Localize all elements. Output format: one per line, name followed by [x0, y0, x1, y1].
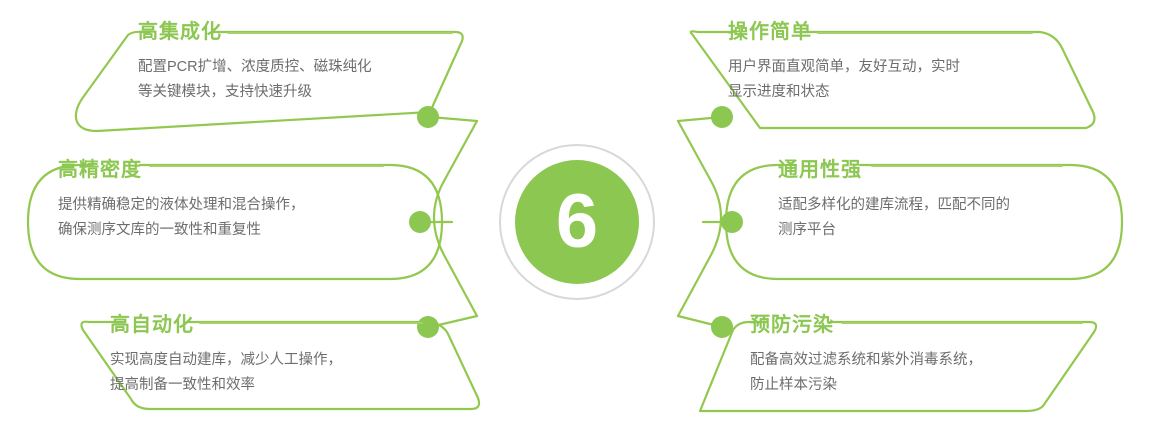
card-bottom-left: 高自动化 实现高度自动建库，减少人工操作， 提高制备一致性和效率: [110, 315, 342, 398]
card-body-line: 提供精确稳定的液体处理和混合操作，: [58, 193, 305, 218]
card-body-line: 等关键模块，支持快速升级: [138, 80, 372, 105]
card-title: 高集成化: [138, 22, 372, 42]
card-body-line: 显示进度和状态: [728, 80, 960, 105]
card-body-line: 提高制备一致性和效率: [110, 373, 342, 398]
center-number: 6: [505, 150, 649, 294]
card-title: 通用性强: [778, 160, 1010, 180]
card-body-line: 配备高效过滤系统和紫外消毒系统，: [750, 348, 982, 373]
card-body: 用户界面直观简单，友好互动，实时 显示进度和状态: [728, 55, 960, 105]
card-title: 高自动化: [110, 315, 342, 335]
card-title: 操作简单: [728, 22, 960, 42]
card-top-right: 操作简单 用户界面直观简单，友好互动，实时 显示进度和状态: [728, 22, 960, 105]
card-body: 适配多样化的建库流程，匹配不同的 测序平台: [778, 193, 1010, 243]
card-body: 配备高效过滤系统和紫外消毒系统， 防止样本污染: [750, 348, 982, 398]
card-body: 提供精确稳定的液体处理和混合操作， 确保测序文库的一致性和重复性: [58, 193, 305, 243]
card-body-line: 确保测序文库的一致性和重复性: [58, 218, 305, 243]
card-middle-right: 通用性强 适配多样化的建库流程，匹配不同的 测序平台: [778, 160, 1010, 243]
card-body: 实现高度自动建库，减少人工操作， 提高制备一致性和效率: [110, 348, 342, 398]
card-body: 配置PCR扩增、浓度质控、磁珠纯化 等关键模块，支持快速升级: [138, 55, 372, 105]
node-dot-middle-right: [721, 211, 743, 233]
card-middle-left: 高精密度 提供精确稳定的液体处理和混合操作， 确保测序文库的一致性和重复性: [58, 160, 305, 243]
card-body-line: 用户界面直观简单，友好互动，实时: [728, 55, 960, 80]
connector-hex-left: [434, 121, 477, 316]
node-dot-top-left: [417, 106, 439, 128]
connector-hex-right: [678, 121, 721, 316]
card-top-left: 高集成化 配置PCR扩增、浓度质控、磁珠纯化 等关键模块，支持快速升级: [138, 22, 372, 105]
infographic-root: 6 高集成化 配置PCR扩增、浓度质控、磁珠纯化 等关键模块，支持快速升级 操作…: [0, 0, 1154, 434]
card-body-line: 配置PCR扩增、浓度质控、磁珠纯化: [138, 55, 372, 80]
card-title: 高精密度: [58, 160, 305, 180]
card-body-line: 适配多样化的建库流程，匹配不同的: [778, 193, 1010, 218]
node-dot-top-right: [711, 106, 733, 128]
node-dot-bottom-left: [417, 316, 439, 338]
card-body-line: 实现高度自动建库，减少人工操作，: [110, 348, 342, 373]
card-body-line: 防止样本污染: [750, 373, 982, 398]
node-dot-bottom-right: [711, 316, 733, 338]
card-title: 预防污染: [750, 315, 982, 335]
node-dot-middle-left: [409, 211, 431, 233]
card-bottom-right: 预防污染 配备高效过滤系统和紫外消毒系统， 防止样本污染: [750, 315, 982, 398]
card-body-line: 测序平台: [778, 218, 1010, 243]
